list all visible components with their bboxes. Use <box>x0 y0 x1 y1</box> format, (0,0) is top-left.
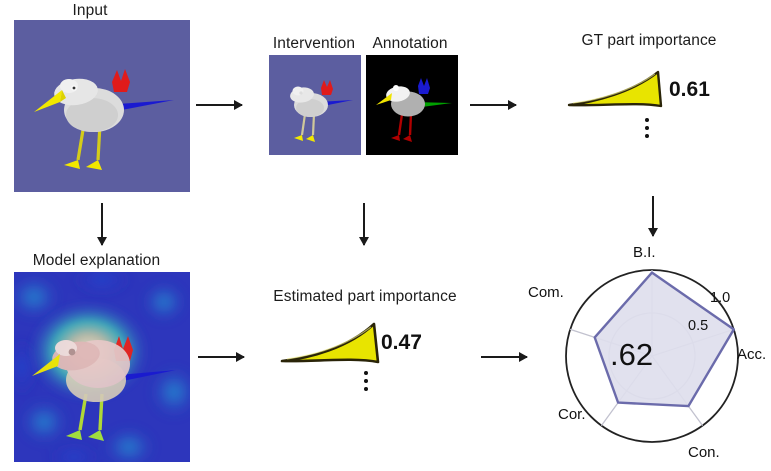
gt-part-importance-value: 0.61 <box>669 78 710 102</box>
intervention-bird-illustration <box>269 55 361 155</box>
gt-part-importance-caption: GT part importance <box>549 32 749 50</box>
saliency-heatmap-illustration <box>14 272 190 462</box>
input-bird-illustration <box>14 20 190 192</box>
arrow-explanation-to-estimated <box>198 356 244 358</box>
arrow-gt-to-radar <box>652 196 654 236</box>
radar-axis-label-acc: Acc. <box>737 346 766 363</box>
arrow-annotation-to-estimated <box>363 203 365 245</box>
annotation-mask-illustration <box>366 55 458 155</box>
arrow-estimated-to-radar <box>481 356 527 358</box>
intervention-caption: Intervention <box>262 35 366 53</box>
model-explanation-image <box>14 272 190 462</box>
radar-center-score: .62 <box>610 337 653 373</box>
model-explanation-caption: Model explanation <box>4 252 189 270</box>
estimated-part-importance-caption: Estimated part importance <box>245 288 485 306</box>
radar-axis-label-com: Com. <box>528 284 564 301</box>
arrow-input-to-model-explanation <box>101 203 103 245</box>
radar-axis-label-cor: Cor. <box>558 406 586 423</box>
gt-vertical-ellipsis-icon <box>641 118 653 142</box>
annotation-caption: Annotation <box>362 35 458 53</box>
radar-chart: B.I. Acc. Con. Cor. Com. 1.0 0.5 .62 <box>528 246 771 466</box>
intervention-image <box>269 55 361 155</box>
radar-tick-label-1: 1.0 <box>710 290 730 306</box>
estimated-part-importance-value: 0.47 <box>381 331 422 355</box>
yellow-beak-shape-icon <box>278 316 390 366</box>
yellow-beak-shape-icon <box>565 62 675 112</box>
arrow-annotation-to-gt <box>470 104 516 106</box>
arrow-input-to-intervention <box>196 104 242 106</box>
gt-part-glyph <box>565 62 675 112</box>
estimated-part-glyph <box>278 316 390 366</box>
radar-axis-label-con: Con. <box>688 444 720 461</box>
annotation-image <box>366 55 458 155</box>
input-caption: Input <box>0 2 180 20</box>
input-image <box>14 20 190 192</box>
estimated-vertical-ellipsis-icon <box>360 371 372 395</box>
radar-tick-label-0-5: 0.5 <box>688 318 708 334</box>
radar-axis-label-bi: B.I. <box>633 244 656 261</box>
